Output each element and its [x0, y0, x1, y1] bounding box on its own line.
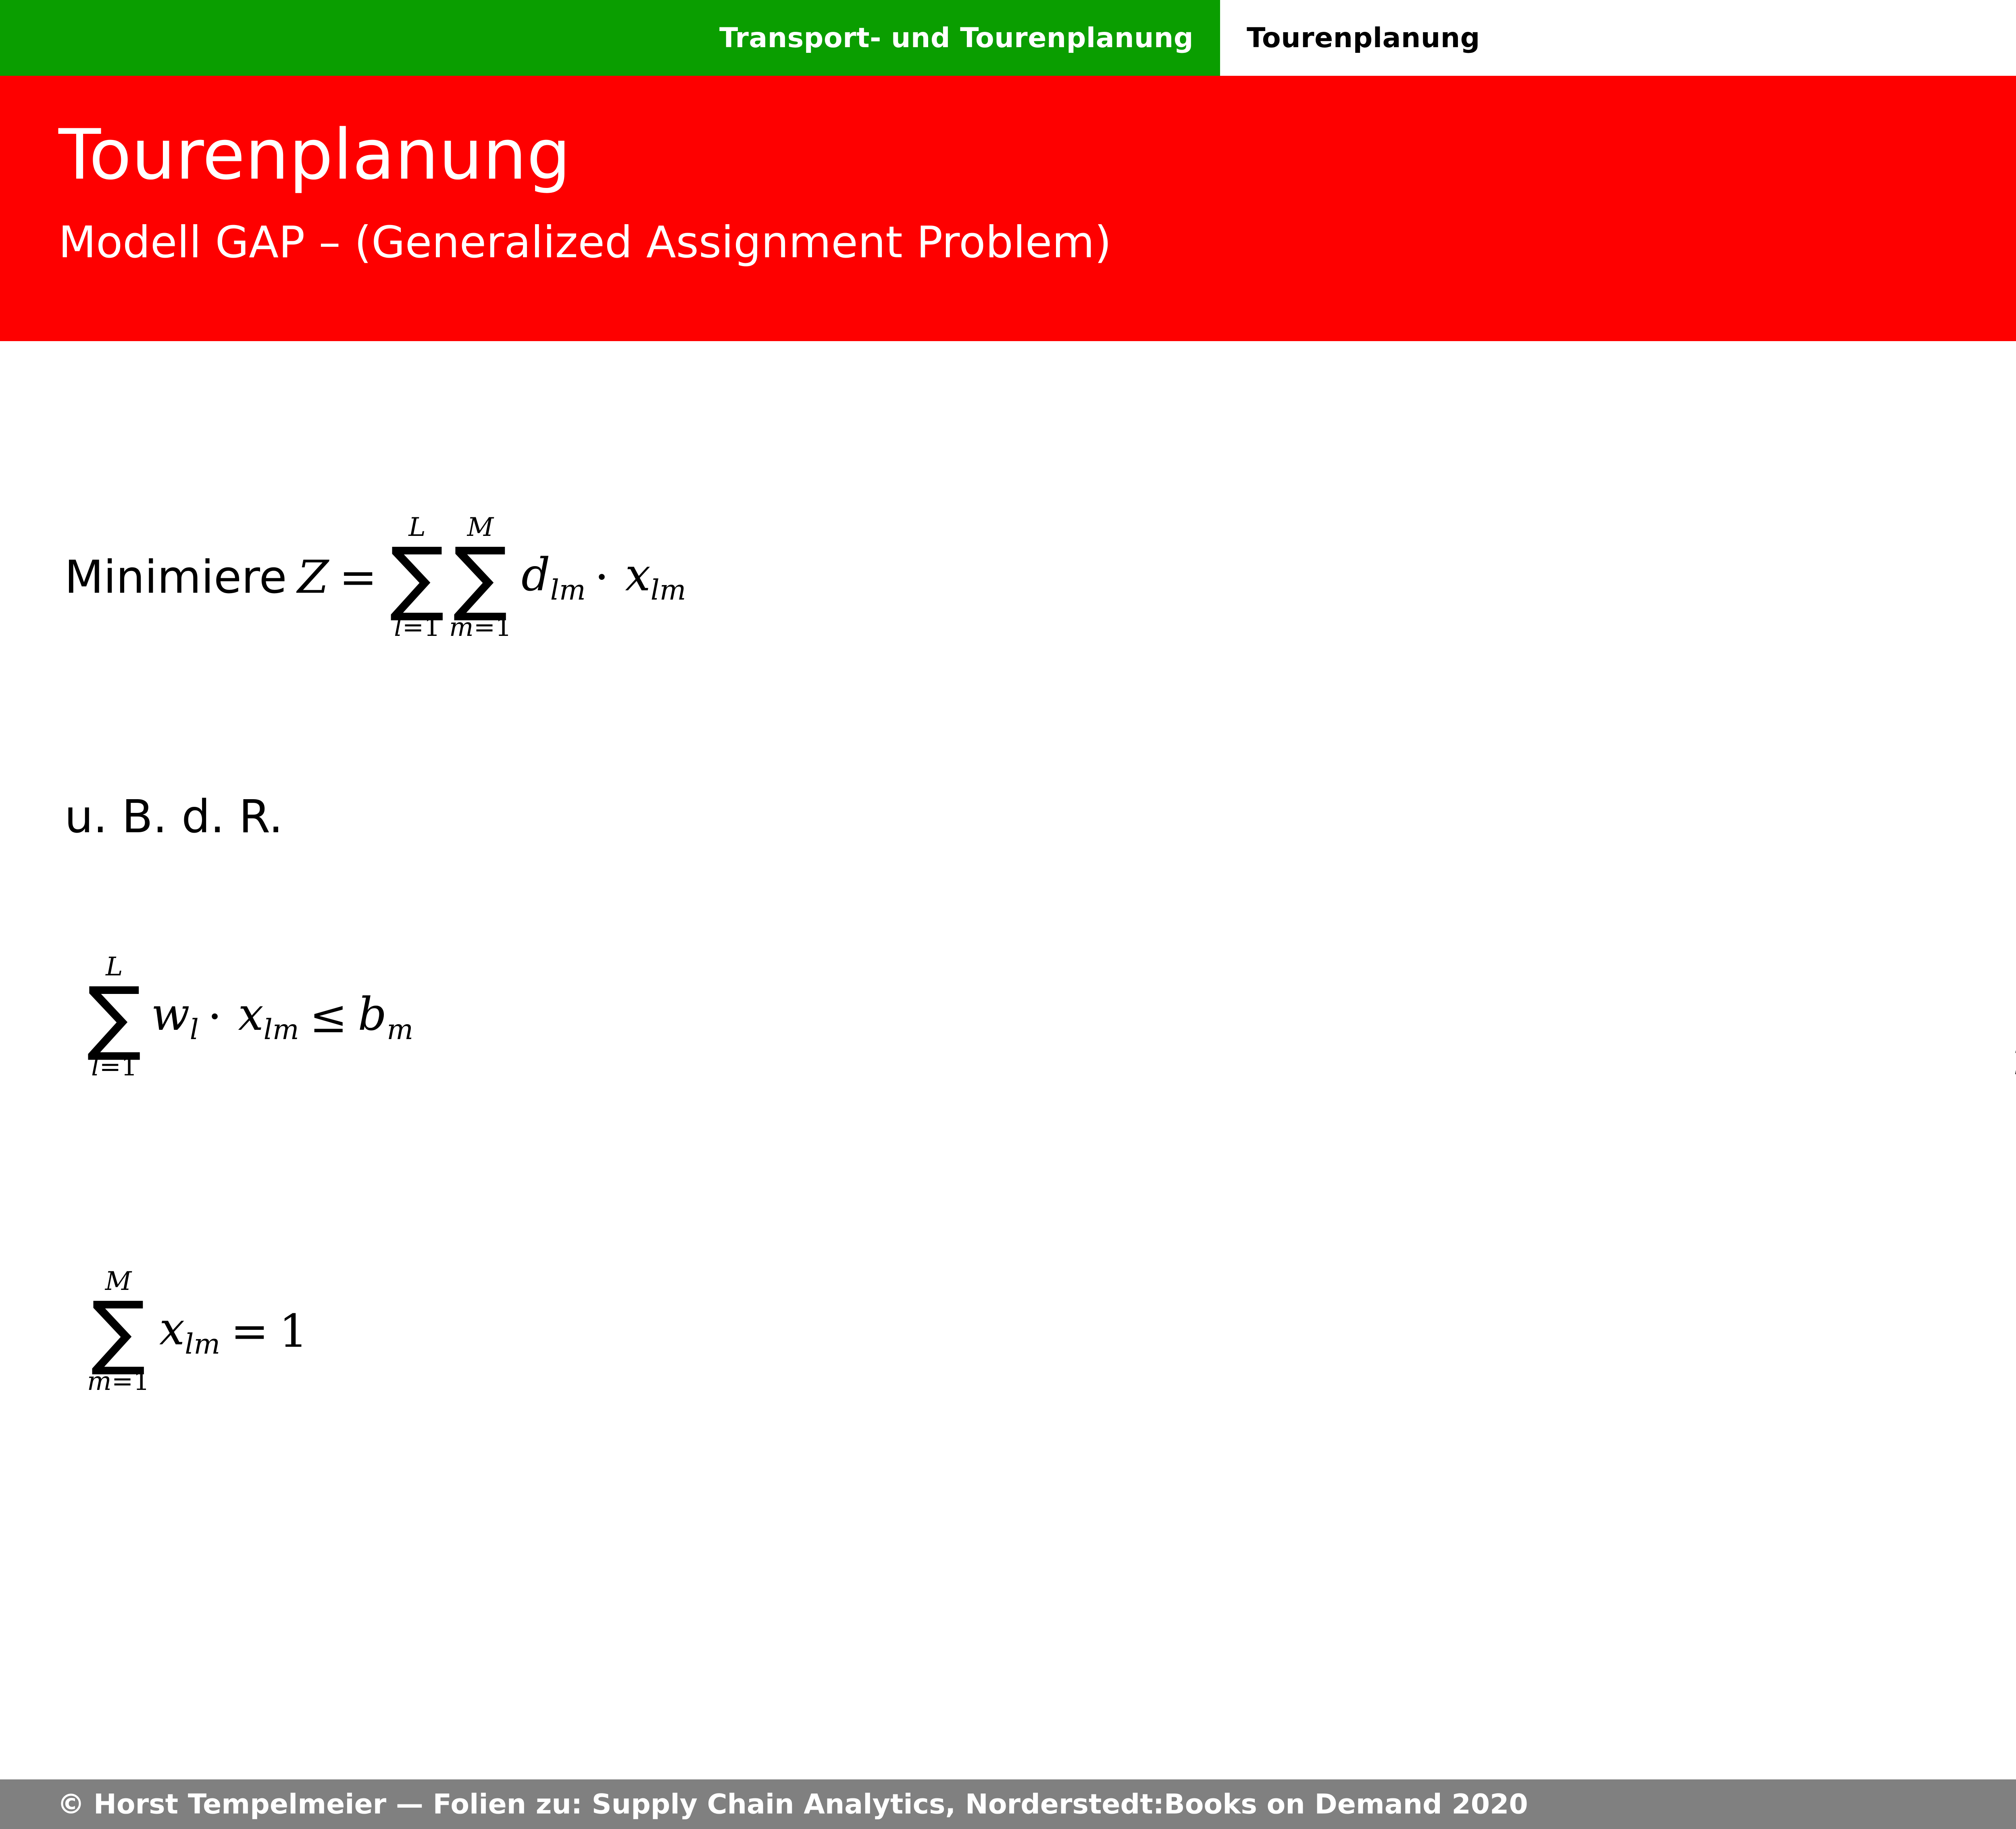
summation-operator: L ∑ l=1	[87, 954, 142, 1080]
page-title: Tourenplanung	[58, 120, 571, 190]
nav-tab-tourenplanung[interactable]: Tourenplanung	[1220, 0, 2016, 76]
header-navigation-bar: Transport- und Tourenplanung Tourenplanu…	[0, 0, 2016, 76]
weight-symbol: w	[151, 988, 190, 1041]
sum-index-eq: =	[474, 612, 496, 642]
objective-lead-label: Minimiere	[65, 551, 287, 604]
sum-index-val: 1	[133, 1367, 150, 1396]
multiplication-dot: ·	[199, 991, 231, 1043]
range-variable: m	[2012, 1033, 2016, 1085]
summation-operator-outer: L ∑ l=1	[390, 515, 444, 640]
sum-lower-limit: m=1	[449, 615, 512, 640]
sum-index-var: l	[394, 612, 402, 642]
sum-lower-limit: l=1	[394, 615, 440, 640]
nav-tab-transport-und-tourenplanung[interactable]: Transport- und Tourenplanung	[0, 0, 1220, 76]
footer-credit: ©Horst Tempelmeier — Folien zu: Supply C…	[57, 1788, 1528, 1820]
nav-tab-label-section: Transport- und Tourenplanung	[719, 22, 1193, 54]
sum-index-eq: =	[99, 1052, 121, 1082]
capacity-subscript: m	[387, 1013, 413, 1046]
copyright-icon: ©	[57, 1788, 85, 1820]
decision-subscript: lm	[650, 574, 686, 606]
decision-symbol: x	[238, 988, 263, 1041]
sigma-icon: ∑	[390, 544, 444, 610]
sigma-icon: ∑	[453, 544, 508, 610]
constraint-capacity-equation: L ∑ l=1 wl · xlm ≤ bm	[85, 954, 413, 1080]
slide-title-band: Tourenplanung Modell GAP – (Generalized …	[0, 76, 2016, 341]
sum-index-var: m	[449, 612, 474, 642]
weight-subscript: l	[190, 1013, 199, 1046]
objective-variable: Z	[287, 551, 329, 604]
summation-operator: M ∑ m=1	[87, 1269, 150, 1394]
cost-subscript: lm	[550, 574, 586, 606]
constraint-assignment-equation: M ∑ m=1 xlm = 1	[85, 1269, 308, 1394]
decision-subscript: lm	[264, 1013, 299, 1046]
objective-relation: =	[329, 551, 387, 604]
decision-symbol: x	[625, 549, 650, 601]
footer-credit-text: Horst Tempelmeier — Folien zu: Supply Ch…	[94, 1788, 1528, 1820]
subject-to-label: u. B. d. R.	[65, 791, 283, 843]
constraint-relation: ≤	[299, 991, 358, 1043]
footer-bar: ©Horst Tempelmeier — Folien zu: Supply C…	[0, 1779, 2016, 1829]
cost-symbol: d	[521, 549, 550, 601]
capacity-symbol: b	[358, 988, 387, 1041]
constraint-rhs-value: 1	[279, 1305, 308, 1358]
nav-tab-label-subsection: Tourenplanung	[1247, 22, 1480, 54]
objective-cost-term: dlm	[514, 549, 586, 606]
decision-symbol: x	[159, 1303, 185, 1355]
sum-lower-limit: m=1	[87, 1369, 150, 1394]
sum-index-val: 1	[495, 612, 512, 642]
page-subtitle: Modell GAP – (Generalized Assignment Pro…	[58, 221, 1112, 265]
sigma-icon: ∑	[87, 984, 142, 1050]
sum-index-var: m	[87, 1367, 112, 1396]
sum-index-eq: =	[402, 612, 424, 642]
constraint-decision-term: xlm	[152, 1303, 220, 1360]
objective-function-equation: Minimiere Z = L ∑ l=1 M ∑ m=1 dlm · xlm	[65, 515, 686, 640]
sigma-icon: ∑	[91, 1298, 146, 1364]
sum-index-val: 1	[121, 1052, 137, 1082]
sum-index-val: 1	[424, 612, 440, 642]
constraint-capacity-term: bm	[358, 988, 414, 1046]
multiplication-dot: ·	[586, 551, 618, 604]
constraint-weight-term: wl	[144, 988, 199, 1046]
constraint-decision-term: xlm	[231, 988, 299, 1046]
decision-subscript: lm	[185, 1328, 220, 1360]
summation-operator-inner: M ∑ m=1	[449, 515, 512, 640]
sum-index-var: l	[91, 1052, 99, 1082]
slide-content-area: Minimiere Z = L ∑ l=1 M ∑ m=1 dlm · xlm …	[0, 341, 2016, 1779]
objective-decision-term: xlm	[618, 549, 686, 606]
constraint-relation: =	[220, 1305, 279, 1358]
sum-index-eq: =	[112, 1367, 133, 1396]
sum-lower-limit: l=1	[91, 1054, 137, 1080]
constraint-index-range-m: m=1, 2, . . . ,M	[2012, 1033, 2016, 1085]
